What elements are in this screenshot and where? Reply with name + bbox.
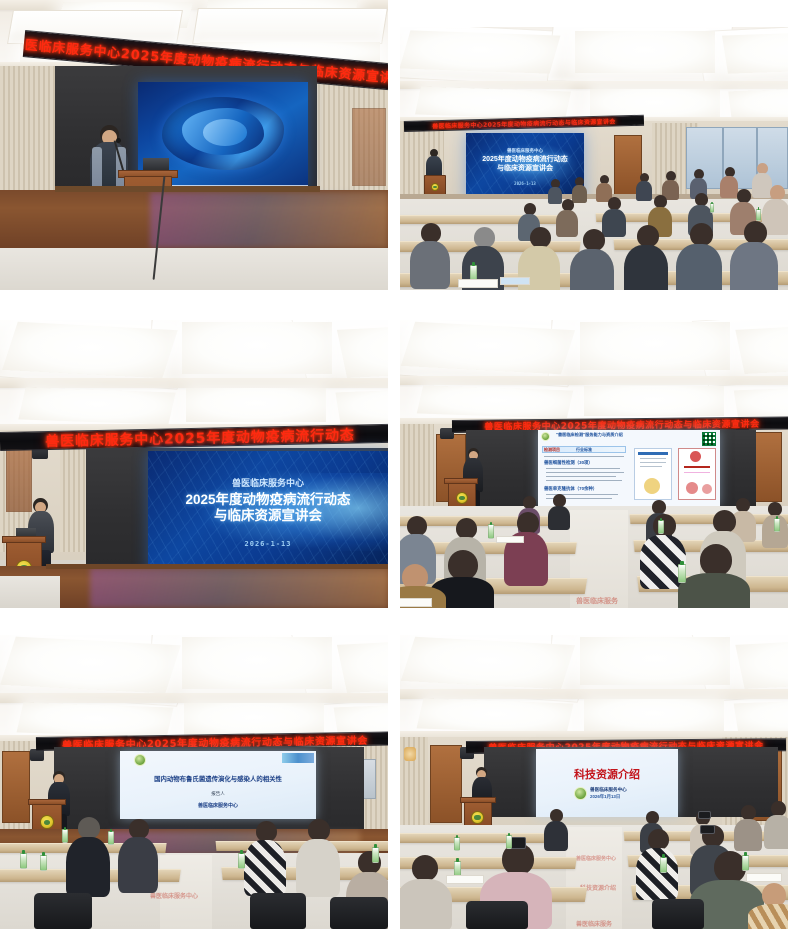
- water-bottle: [678, 564, 686, 583]
- audience-member: [764, 801, 788, 847]
- screen-main-line-2: 与临床资源宣讲会: [214, 508, 322, 524]
- screen-date: 2026-1-13: [514, 181, 536, 186]
- water-bottle: [660, 857, 667, 873]
- audience-member: [636, 829, 678, 897]
- audience-member: [504, 512, 548, 582]
- water-bottle: [372, 847, 379, 863]
- screen-main-line-2: 与临床资源宣讲会: [497, 165, 553, 173]
- audience-member: [296, 819, 340, 895]
- photo-top-right[interactable]: 兽医临床服务中心2025年度动物疫病流行动态与临床资源宣讲会 兽医临床服务中心 …: [400, 27, 788, 290]
- document-paper: [500, 277, 530, 285]
- chair: [652, 899, 704, 929]
- screen-subtitle: 兽医临床服务中心: [507, 148, 543, 154]
- document-paper: [400, 598, 432, 607]
- floor-projection-text: 兽医临床服务: [576, 919, 612, 928]
- slide-section-1: 兽医细菌性检测（30项）: [544, 460, 593, 466]
- audience-member: [244, 821, 286, 895]
- stage-screen-photo-6: 科技资源介绍 兽医临床服务中心 2026年1月13日: [536, 749, 678, 817]
- smartphone: [700, 825, 715, 834]
- audience-member: [748, 883, 788, 929]
- photo-bottom-left[interactable]: 兽医临床服务中心2025年度动物疫病流行动态与临床资源宣讲会 国内动物布鲁氏菌遗…: [0, 635, 388, 929]
- water-bottle: [742, 855, 749, 871]
- water-bottle: [774, 518, 780, 532]
- document-paper: [746, 873, 782, 882]
- slide-affiliation: 兽医临床服务中心: [120, 802, 316, 809]
- water-bottle: [756, 209, 761, 221]
- water-bottle: [238, 853, 245, 869]
- photo-grid: 兽医临床服务中心2025年度动物疫病流行动态与临床资源宣讲会: [0, 0, 788, 929]
- water-bottle: [454, 837, 460, 851]
- water-bottle: [62, 829, 68, 843]
- floor-projection-text: 兽医临床服务中心: [150, 891, 198, 900]
- photo-top-left[interactable]: 兽医临床服务中心2025年度动物疫病流行动态与临床资源宣讲会: [0, 0, 388, 290]
- chair: [330, 897, 388, 929]
- water-bottle: [20, 853, 27, 869]
- podium-emblem-icon: [431, 183, 439, 191]
- qr-code-icon: [702, 432, 716, 446]
- podium-emblem-icon: [40, 815, 54, 829]
- audience-member: [624, 225, 668, 290]
- audience-member: [730, 221, 778, 290]
- audience-member: [678, 544, 750, 608]
- water-bottle: [506, 835, 512, 849]
- slide-date: 2026年1月13日: [590, 794, 620, 800]
- org-logo-icon: [541, 432, 550, 441]
- org-logo-icon: [574, 787, 587, 800]
- photo-middle-right[interactable]: 兽医临床服务中心2025年度动物疫病流行动态与临床资源宣讲会 "兽医临床检测"服…: [400, 320, 788, 608]
- podium-emblem-icon: [456, 492, 468, 504]
- photo-middle-left[interactable]: 兽医临床服务中心2025年度动物疫病流行动态 兽医临床服务中心 2025年度动物…: [0, 320, 388, 608]
- audience-member: [676, 223, 722, 290]
- audience-member: [410, 223, 450, 285]
- slide-title: 科技资源介绍: [536, 766, 678, 782]
- floor-projection-text: 兽医临床服务: [576, 596, 618, 606]
- screen-main-line-1: 2025年度动物疫病流行动态: [185, 492, 350, 508]
- water-bottle: [40, 855, 47, 871]
- stage-screen-photo-5: 国内动物布鲁氏菌遗传演化与感染人的相关性 报告人 兽医临床服务中心: [120, 751, 316, 819]
- water-bottle: [108, 831, 114, 845]
- audience-member: [570, 229, 614, 290]
- audience-member: [400, 855, 452, 929]
- audience-member: [548, 494, 570, 528]
- water-bottle: [488, 524, 494, 539]
- org-logo-icon: [134, 754, 146, 766]
- chair: [34, 893, 92, 929]
- water-bottle: [710, 203, 714, 213]
- audience-member: [66, 817, 110, 895]
- water-bottle: [658, 520, 664, 534]
- slide-heading: "兽医临床检测"服务能力与资质介绍: [556, 432, 623, 438]
- chair: [466, 901, 528, 929]
- floor-projection-text: 兽医临床服务中心: [576, 855, 616, 862]
- audience-member: [118, 819, 158, 891]
- chair: [250, 893, 306, 929]
- document-paper: [446, 875, 484, 884]
- smartphone: [698, 811, 711, 819]
- slide-affiliation: 兽医临床服务中心: [590, 787, 627, 793]
- screen-main-line-1: 2025年度动物疫病流行动态: [482, 156, 568, 164]
- stage-screen-photo-2: 兽医临床服务中心 2025年度动物疫病流行动态 与临床资源宣讲会 2026-1-…: [466, 133, 584, 201]
- audience-member: [734, 805, 762, 849]
- document-paper: [458, 279, 498, 288]
- screen-subtitle: 兽医临床服务中心: [232, 476, 304, 489]
- slide-title: 国内动物布鲁氏菌遗传演化与感染人的相关性: [120, 774, 316, 783]
- document-paper: [496, 536, 524, 543]
- podium-emblem-icon: [471, 811, 484, 824]
- stage-screen-photo-3: 兽医临床服务中心 2025年度动物疫病流行动态 与临床资源宣讲会 2026-1-…: [148, 451, 388, 573]
- slide-author: 报告人: [120, 791, 316, 797]
- slide-section-2: 兽医单克隆抗体（70余种）: [544, 486, 597, 492]
- screen-date: 2026-1-13: [245, 540, 292, 548]
- photo-bottom-right[interactable]: 兽医临床服务中心2025年度动物疫病流行动态与临床资源宣讲会 科技资源介绍 兽医…: [400, 635, 788, 929]
